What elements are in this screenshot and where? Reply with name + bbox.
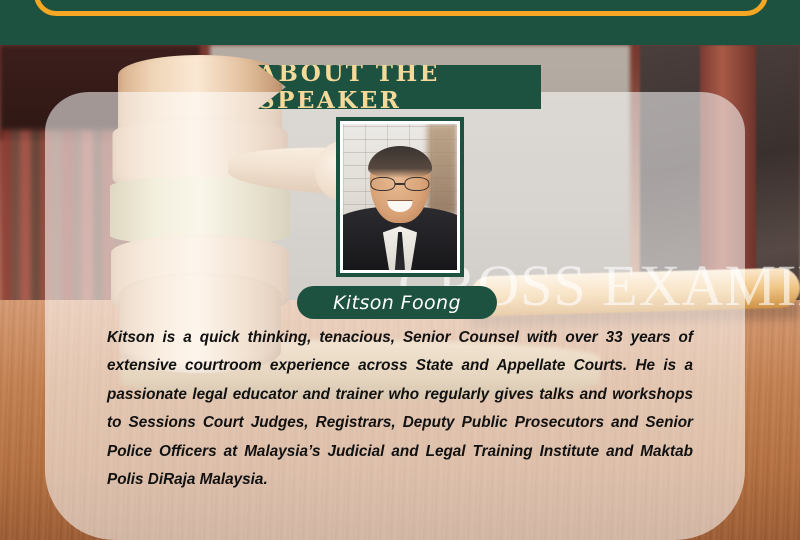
speaker-portrait xyxy=(343,124,457,270)
slide-canvas: CROSS EXAMINATI About The Speaker xyxy=(0,0,800,540)
speaker-name-text: Kitson Foong xyxy=(333,292,461,314)
speaker-bio-text: Kitson is a quick thinking, tenacious, S… xyxy=(107,324,693,494)
speaker-photo-inner-border xyxy=(340,121,460,273)
speaker-name-badge: Kitson Foong xyxy=(297,286,497,319)
ribbon-title-text: About The Speaker xyxy=(258,65,541,109)
about-the-speaker-ribbon: About The Speaker xyxy=(258,65,541,109)
speaker-photo-frame xyxy=(336,117,464,277)
top-orange-outline xyxy=(34,0,768,16)
portrait-glasses-icon xyxy=(370,177,429,192)
